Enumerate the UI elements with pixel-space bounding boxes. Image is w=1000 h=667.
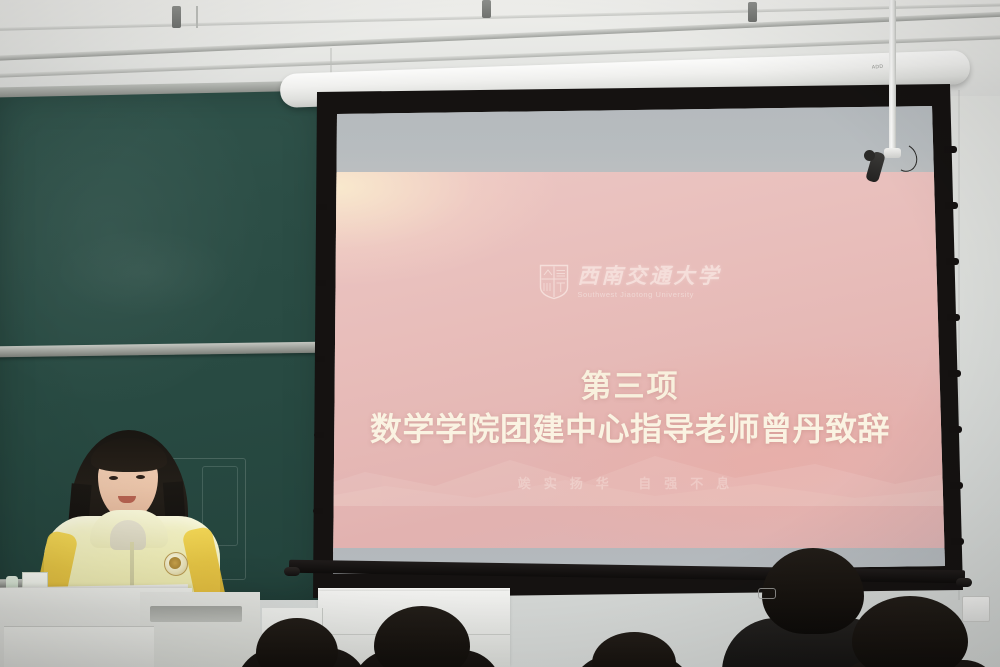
- eyeglasses-icon: [758, 588, 776, 599]
- screen-tension-tab: [944, 146, 957, 153]
- desk-equipment-slot: [150, 606, 242, 622]
- university-name-en: Southwest Jiaotong University: [578, 290, 694, 299]
- screen-bar-knob: [956, 578, 972, 587]
- jacket-emblem-center: [169, 557, 181, 569]
- screen-tension-tab: [949, 426, 962, 433]
- university-logo: 西南交通大学 Southwest Jiaotong University: [295, 264, 965, 300]
- screen-tension-tab: [950, 482, 963, 489]
- podium-front-panel: [4, 626, 154, 667]
- microphone-pole: [889, 0, 896, 152]
- screen-tension-tab: [315, 356, 325, 362]
- university-crest-icon: [539, 264, 569, 300]
- ceiling-wire: [196, 6, 198, 28]
- screen-tension-tab: [314, 432, 324, 438]
- side-desk: [140, 592, 260, 667]
- projection-screen: 西南交通大学 Southwest Jiaotong University 第三项…: [295, 84, 965, 598]
- housing-label: ADD: [872, 64, 884, 71]
- microphone-collar: [884, 148, 901, 158]
- screen-tension-tab: [951, 538, 964, 545]
- chalk-smudge: [54, 228, 234, 318]
- audience-head-4: [762, 548, 864, 634]
- screen-tension-tab: [947, 314, 960, 321]
- presentation-slide: 西南交通大学 Southwest Jiaotong University 第三项…: [295, 84, 965, 598]
- inner-shirt: [110, 520, 146, 550]
- presenter-eye: [109, 476, 118, 480]
- screen-tension-tab: [946, 258, 959, 265]
- university-name-cn: 西南交通大学: [578, 265, 722, 287]
- conduit-hanger: [482, 0, 491, 18]
- wall-outlet: [962, 596, 990, 622]
- screen-projection-surface: 西南交通大学 Southwest Jiaotong University 第三项…: [295, 84, 965, 598]
- screen-tension-tab: [948, 370, 961, 377]
- microphone-capsule-icon: [864, 150, 875, 161]
- classroom-photo-scene: ADD: [0, 0, 1000, 667]
- screen-tension-tab: [316, 280, 326, 286]
- slide-background: 西南交通大学 Southwest Jiaotong University 第三项…: [295, 172, 965, 552]
- university-logo-text: 西南交通大学 Southwest Jiaotong University: [578, 265, 722, 298]
- conduit-hanger: [748, 2, 757, 22]
- screen-tension-tab: [313, 508, 323, 514]
- slide-motto: 竢实扬华 自强不息: [295, 473, 965, 492]
- screen-tension-tab: [945, 202, 958, 209]
- slide-mountain-graphic: [295, 416, 965, 506]
- screen-bar-knob: [284, 567, 300, 576]
- conduit-hanger: [172, 6, 181, 28]
- screen-tension-tab: [317, 204, 327, 210]
- slide-agenda-number: 第三项: [295, 368, 965, 407]
- presenter-eye: [136, 475, 145, 479]
